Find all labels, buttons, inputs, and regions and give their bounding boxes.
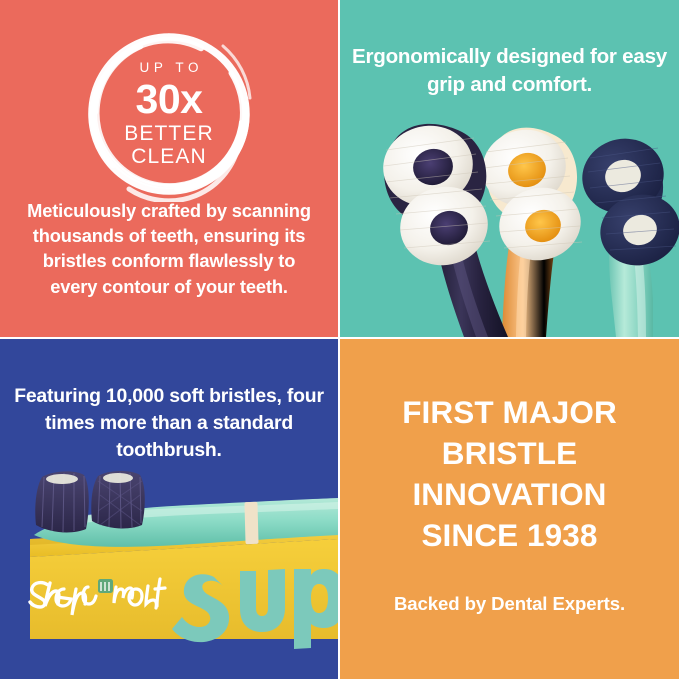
product-infographic: UP TO 30x BETTER CLEAN Meticulously craf… bbox=[0, 0, 679, 679]
quadrant-bristle-count: Featuring 10,000 soft bristles, four tim… bbox=[0, 339, 338, 679]
three-toothbrush-heads-image bbox=[340, 0, 679, 337]
heritage-heading-line: SINCE 1938 bbox=[350, 515, 669, 556]
toothbrush-mint bbox=[573, 129, 679, 337]
badge-better-label: BETTER bbox=[124, 123, 213, 144]
heritage-heading-line: INNOVATION bbox=[350, 474, 669, 515]
quadrant-better-clean: UP TO 30x BETTER CLEAN Meticulously craf… bbox=[0, 0, 338, 337]
better-clean-badge: UP TO 30x BETTER CLEAN bbox=[81, 26, 257, 202]
superbrush-box-image bbox=[0, 339, 338, 679]
quadrant-heritage: FIRST MAJOR BRISTLE INNOVATION SINCE 193… bbox=[340, 339, 679, 679]
badge-clean-label: CLEAN bbox=[131, 146, 207, 167]
mint-toothbrush bbox=[34, 471, 338, 547]
heritage-subheading: Backed by Dental Experts. bbox=[350, 593, 669, 615]
badge-multiplier: 30x bbox=[136, 79, 203, 120]
heritage-heading-line: BRISTLE bbox=[350, 433, 669, 474]
heritage-heading-line: FIRST MAJOR bbox=[350, 392, 669, 433]
badge-text-block: UP TO 30x BETTER CLEAN bbox=[81, 26, 257, 202]
badge-up-to-label: UP TO bbox=[135, 61, 203, 75]
quadrant-ergonomic-design: Ergonomically designed for easy grip and… bbox=[340, 0, 679, 337]
heritage-heading: FIRST MAJOR BRISTLE INNOVATION SINCE 193… bbox=[350, 392, 669, 556]
better-clean-body-copy: Meticulously crafted by scanning thousan… bbox=[18, 198, 320, 299]
